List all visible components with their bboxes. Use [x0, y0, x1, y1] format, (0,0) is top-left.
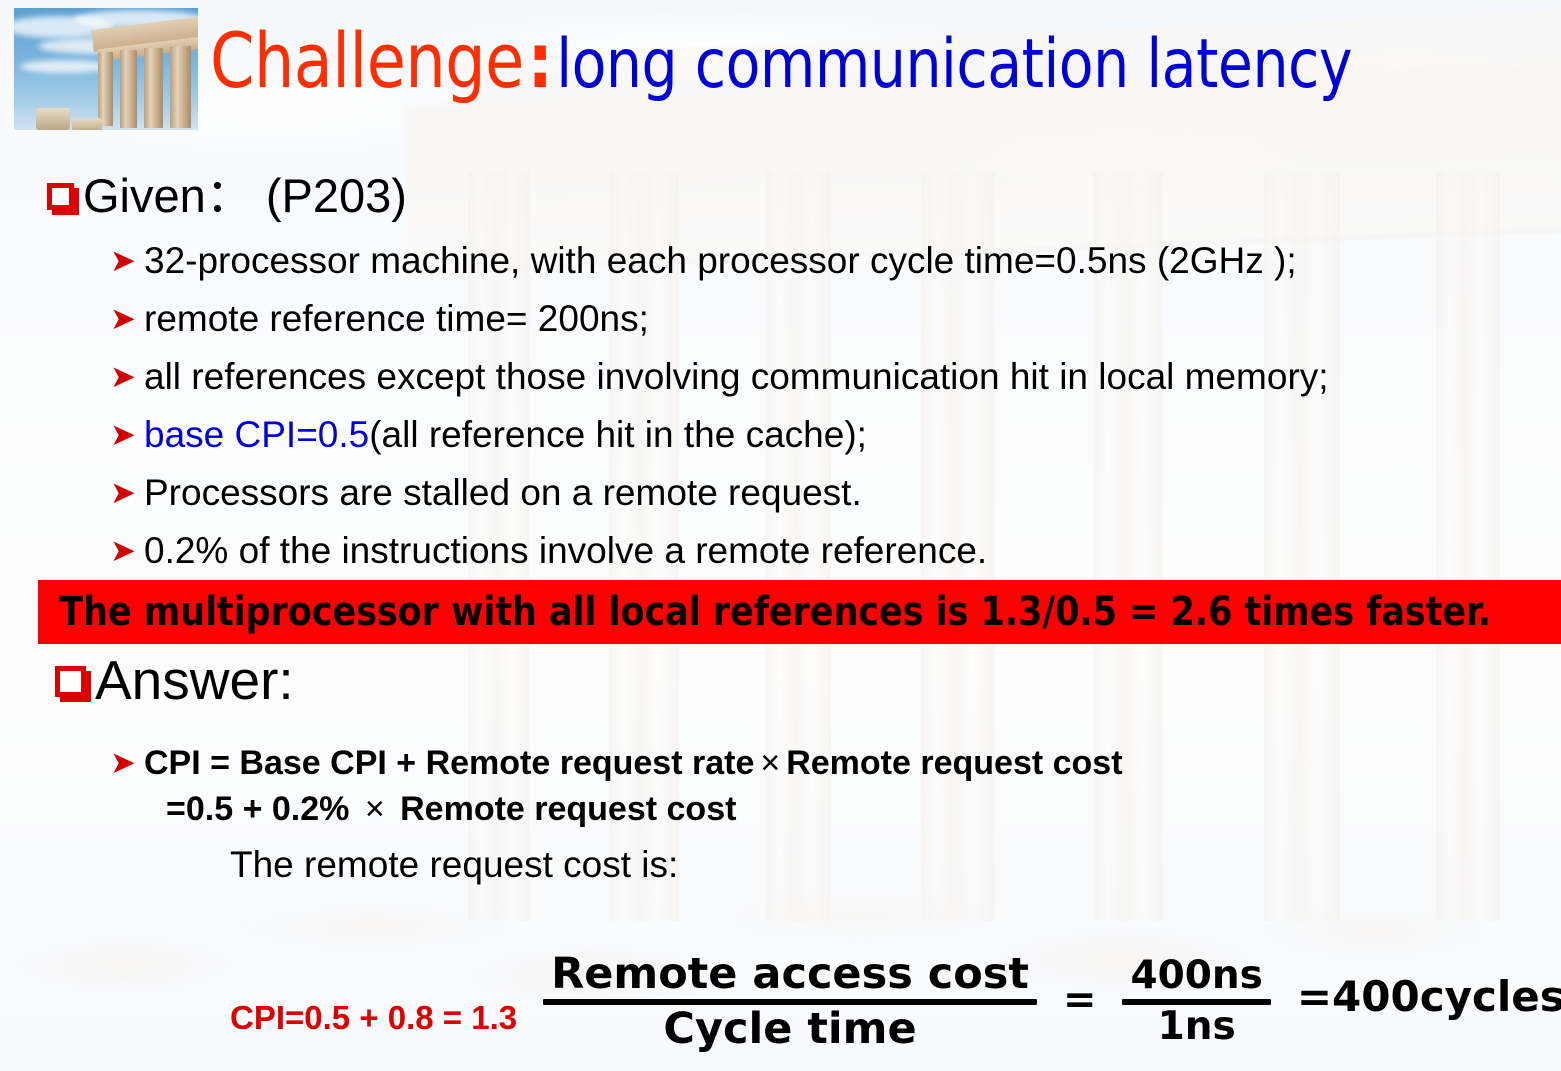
thumbnail-column: [144, 48, 163, 128]
fraction-numerator: Remote access cost: [543, 952, 1037, 997]
answer-heading-label: Answer:: [95, 649, 294, 711]
thumbnail-cloud: [20, 60, 110, 73]
fraction-denominator: 1ns: [1150, 1007, 1244, 1048]
square-bullet-icon: [55, 666, 86, 697]
answer-heading: Answer:: [55, 650, 294, 710]
multiply-icon: ×: [754, 740, 786, 786]
cpi-result-text: CPI=0.5 + 0.8 = 1.3: [230, 999, 517, 1051]
title-subtitle-text: long communication latency: [556, 25, 1352, 104]
list-item-label: 32-processor machine, with each processo…: [144, 232, 1297, 290]
list-item: ➤ 32-processor machine, with each proces…: [110, 232, 1560, 290]
list-item: ➤ remote reference time= 200ns;: [110, 290, 1560, 348]
multiply-icon: ×: [359, 790, 391, 828]
remote-cost-note: The remote request cost is:: [230, 842, 678, 888]
arrow-bullet-icon: ➤: [110, 232, 144, 290]
list-item-label-highlight: base CPI=0.5: [144, 406, 369, 464]
formula-line-2-part-a: =0.5 + 0.2%: [166, 790, 359, 828]
list-item: ➤ base CPI=0.5 (all reference hit in the…: [110, 406, 1560, 464]
given-bullet-list: ➤ 32-processor machine, with each proces…: [110, 232, 1560, 580]
list-item: ➤ 0.2% of the instructions involve a rem…: [110, 522, 1560, 580]
title-main-text: Challenge: [210, 16, 524, 105]
arrow-bullet-icon: ➤: [110, 406, 144, 464]
title-colon: :: [524, 16, 556, 105]
parthenon-thumbnail-image: [14, 8, 198, 130]
thumbnail-rock: [72, 118, 102, 130]
list-item-label: all references except those involving co…: [144, 348, 1329, 406]
thumbnail-column: [120, 50, 137, 128]
list-item-label: (all reference hit in the cache);: [369, 406, 867, 464]
formula-line-1: ➤ CPI = Base CPI + Remote request rate ×…: [110, 740, 1510, 786]
list-item: ➤ Processors are stalled on a remote req…: [110, 464, 1560, 522]
math-result-text: =400cycles: [1297, 972, 1561, 1031]
fraction-remote-over-cycle: Remote access cost Cycle time: [543, 952, 1037, 1051]
fraction-denominator: Cycle time: [655, 1007, 924, 1052]
slide-canvas: Challenge:long communication latency Giv…: [0, 0, 1561, 1071]
answer-formula-block: ➤ CPI = Base CPI + Remote request rate ×…: [110, 740, 1510, 832]
fraction-numerator: 400ns: [1122, 956, 1270, 997]
square-bullet-icon: [47, 183, 74, 210]
formula-line-2: =0.5 + 0.2% × Remote request cost: [110, 786, 1510, 832]
list-item-label: Processors are stalled on a remote reque…: [144, 464, 862, 522]
arrow-bullet-icon: ➤: [110, 290, 144, 348]
list-item-label: remote reference time= 200ns;: [144, 290, 649, 348]
given-heading: Given： (P203): [47, 170, 407, 222]
arrow-bullet-icon: ➤: [110, 522, 144, 580]
bottom-math-row: CPI=0.5 + 0.8 = 1.3 Remote access cost C…: [230, 952, 1561, 1051]
arrow-bullet-icon: ➤: [110, 348, 144, 406]
slide-content: Given： (P203) ➤ 32-processor machine, wi…: [0, 0, 1561, 1071]
given-heading-label: Given： (P203): [83, 169, 407, 222]
highlight-banner-text: The multiprocessor with all local refere…: [38, 589, 1491, 635]
formula-line-2-part-b: Remote request cost: [391, 790, 737, 828]
fraction-400ns-over-1ns: 400ns 1ns: [1122, 956, 1270, 1047]
arrow-bullet-icon: ➤: [110, 740, 144, 786]
thumbnail-column: [170, 46, 191, 128]
equals-sign: =: [1063, 977, 1097, 1027]
thumbnail-column: [98, 52, 113, 126]
formula-line-1-part-b: Remote request cost: [786, 740, 1122, 786]
slide-title: Challenge:long communication latency: [210, 18, 1461, 108]
formula-line-1-part-a: CPI = Base CPI + Remote request rate: [144, 740, 754, 786]
list-item-label: 0.2% of the instructions involve a remot…: [144, 522, 987, 580]
arrow-bullet-icon: ➤: [110, 464, 144, 522]
thumbnail-rock: [36, 108, 70, 130]
list-item: ➤ all references except those involving …: [110, 348, 1560, 406]
highlight-banner: The multiprocessor with all local refere…: [38, 580, 1561, 644]
